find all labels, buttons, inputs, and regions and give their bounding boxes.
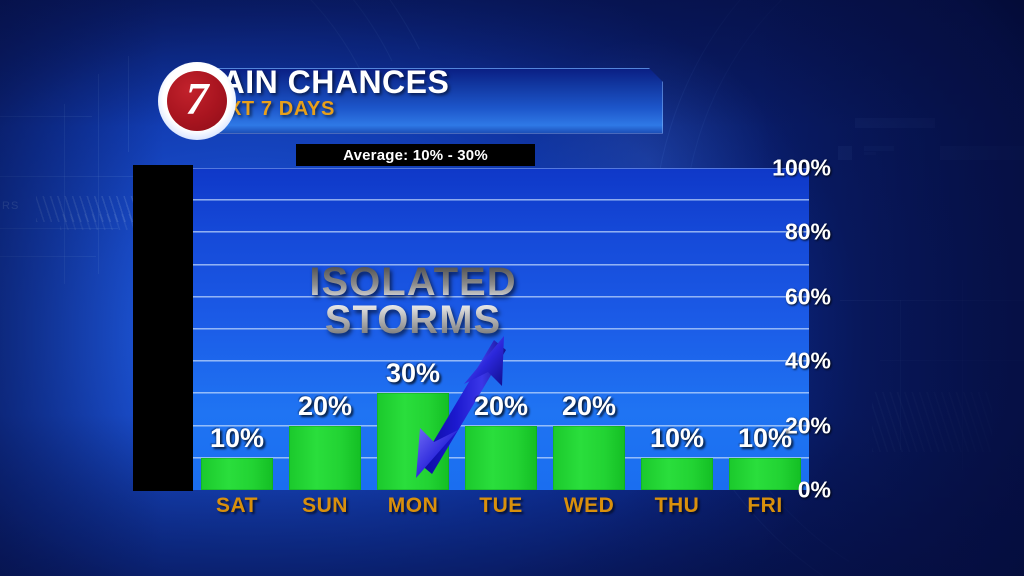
x-axis-day-label: FRI: [721, 494, 809, 518]
y-axis-tick-label: 40%: [785, 348, 831, 375]
y-axis-tick-label: 100%: [772, 155, 831, 182]
chart-bar: [289, 426, 361, 490]
y-axis-tick-label: 80%: [785, 219, 831, 246]
x-axis-day-label: TUE: [457, 494, 545, 518]
bar-value-label: 20%: [273, 391, 377, 422]
isolated-storms-label: ISOLATED STORMS: [298, 264, 528, 339]
y-axis-panel: [133, 165, 193, 491]
header: RAIN CHANCES NEXT 7 DAYS 7: [158, 62, 663, 142]
logo-seven-label: 7: [158, 62, 236, 140]
average-banner: Average: 10% - 30%: [296, 144, 535, 166]
y-axis-tick-label: 60%: [785, 283, 831, 310]
x-axis-day-label: SUN: [281, 494, 369, 518]
channel-7-logo-icon: 7: [158, 62, 236, 140]
x-axis-day-label: WED: [545, 494, 633, 518]
average-banner-text: Average: 10% - 30%: [343, 147, 488, 164]
gridline: [193, 231, 809, 233]
gridline: [193, 199, 809, 201]
gridline: [193, 168, 809, 169]
bar-value-label: 10%: [713, 423, 817, 454]
x-axis-day-label: SAT: [193, 494, 281, 518]
x-axis-day-label: MON: [369, 494, 457, 518]
chart-bar: [553, 426, 625, 490]
chart-bar: [641, 458, 713, 490]
bar-value-label: 10%: [185, 423, 289, 454]
bar-value-label: 20%: [537, 391, 641, 422]
x-axis-day-label: THU: [633, 494, 721, 518]
chart-bar: [201, 458, 273, 490]
chart-bar: [729, 458, 801, 490]
bar-value-label: 30%: [361, 358, 465, 389]
